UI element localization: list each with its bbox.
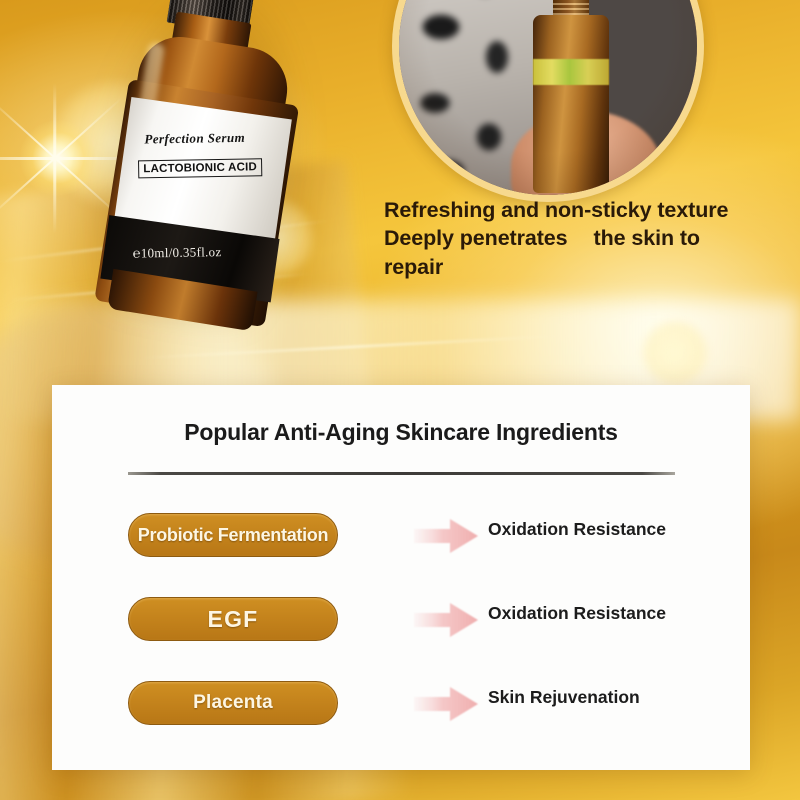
headline-line-2a: Deeply penetrates xyxy=(384,226,568,250)
arrow-right-icon xyxy=(412,517,480,555)
headline-line-2: Deeply penetratesthe skin to xyxy=(384,224,784,252)
arrow-right-icon xyxy=(412,685,480,723)
headline-line-2b: the skin to xyxy=(594,226,700,250)
ingredient-pill-label: EGF xyxy=(208,606,259,633)
bottle-ingredient-box: LACTOBIONIC ACID xyxy=(138,158,262,178)
bottle-volume-text: ℮10ml/0.35fl.oz xyxy=(133,244,222,262)
ingredient-row: Placenta Skin Rejuvenation xyxy=(52,671,750,755)
headline-line-3: repair xyxy=(384,253,784,281)
product-marketing-image: Perfection Serum LACTOBIONIC ACID ℮10ml/… xyxy=(0,0,800,800)
arrow-right-icon xyxy=(412,601,480,639)
bokeh-circle-tiny xyxy=(640,318,710,388)
ingredient-pill-probiotic-fermentation[interactable]: Probiotic Fermentation xyxy=(128,513,338,557)
benefit-label: Oxidation Resistance xyxy=(488,603,666,624)
ingredient-pill-label: Placenta xyxy=(193,692,273,714)
ingredient-pill-placenta[interactable]: Placenta xyxy=(128,681,338,725)
page-title: Popular Anti-Aging Skincare Ingredients xyxy=(52,419,750,446)
title-divider xyxy=(128,472,675,475)
benefit-label: Oxidation Resistance xyxy=(488,519,666,540)
benefit-label: Skin Rejuvenation xyxy=(488,687,640,708)
ingredient-row: EGF Oxidation Resistance xyxy=(52,587,750,671)
headline-line-1: Refreshing and non-sticky texture xyxy=(384,196,784,224)
ingredient-rows: Probiotic Fermentation xyxy=(52,503,750,755)
ingredient-row: Probiotic Fermentation xyxy=(52,503,750,587)
ingredient-pill-egf[interactable]: EGF xyxy=(128,597,338,641)
headline-text-block: Refreshing and non-sticky texture Deeply… xyxy=(384,196,784,281)
bottle-brand-script: Perfection Serum xyxy=(144,129,276,147)
circular-inset-photo xyxy=(392,0,704,202)
ingredients-card: Popular Anti-Aging Skincare Ingredients … xyxy=(52,385,750,770)
ingredient-pill-label: Probiotic Fermentation xyxy=(138,525,328,546)
